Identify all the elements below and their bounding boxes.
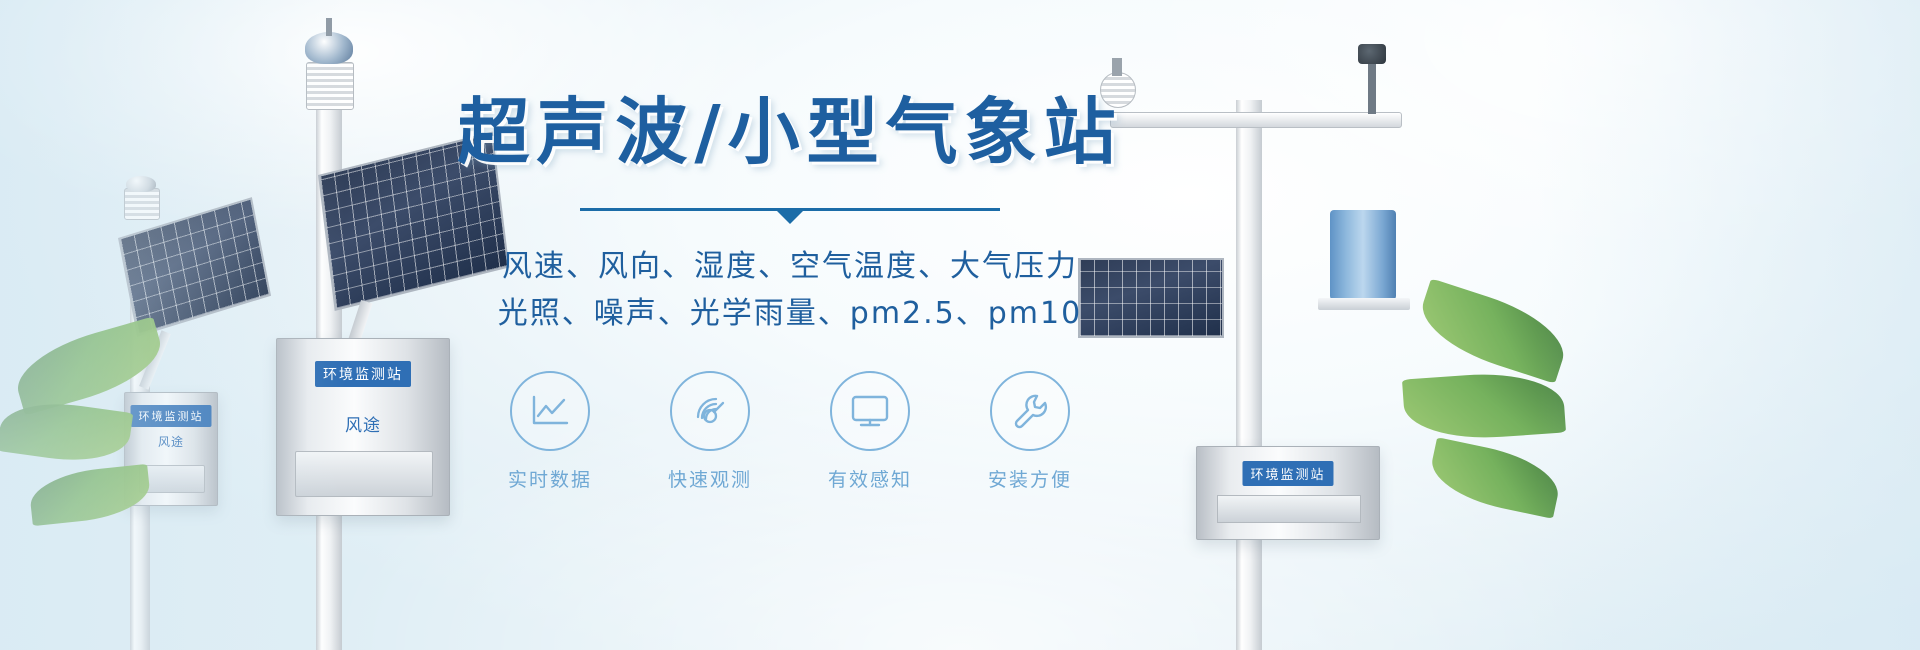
banner-title: 超声波/小型气象站 — [440, 96, 1140, 168]
left-cabinet-brand: 风途 — [158, 433, 184, 450]
middle-station-dome-icon — [305, 32, 353, 64]
feature-item-fast-observation[interactable]: 快速观测 — [650, 371, 770, 492]
feature-label: 安装方便 — [970, 465, 1090, 492]
feature-icon-circle — [990, 371, 1070, 451]
middle-station-mast-tip — [326, 18, 332, 36]
right-station-cross-arm — [1110, 112, 1402, 128]
line-chart-icon — [530, 394, 570, 428]
feature-item-effective-sensing[interactable]: 有效感知 — [810, 371, 930, 492]
middle-cabinet-tag: 环境监测站 — [315, 361, 411, 387]
right-station-pole — [1236, 100, 1262, 650]
product-banner: 环境监测站 风途 环境监测站 风途 环境监测站 — [0, 0, 1920, 650]
left-station-dome-icon — [126, 176, 156, 192]
right-station-gauge-shelf — [1318, 298, 1410, 310]
feature-label: 有效感知 — [810, 465, 930, 492]
right-equipment-cabinet: 环境监测站 — [1196, 446, 1380, 540]
title-divider — [580, 208, 1000, 222]
feature-item-realtime-data[interactable]: 实时数据 — [490, 371, 610, 492]
banner-text-block: 超声波/小型气象站 风速、风向、湿度、空气温度、大气压力 光照、噪声、光学雨量、… — [440, 96, 1140, 566]
left-cabinet-vent — [139, 465, 205, 493]
feature-label: 快速观测 — [650, 465, 770, 492]
middle-station-sensor-stack — [306, 62, 354, 110]
feature-icon-circle — [670, 371, 750, 451]
feature-item-easy-install[interactable]: 安装方便 — [970, 371, 1090, 492]
middle-cabinet-vent — [295, 451, 433, 497]
monitor-screen-icon — [849, 393, 891, 429]
right-station-instrument-mast — [1368, 58, 1376, 114]
feature-list: 实时数据 快速观测 — [440, 371, 1140, 492]
middle-equipment-cabinet: 环境监测站 风途 — [276, 338, 450, 516]
feature-icon-circle — [830, 371, 910, 451]
wrench-icon — [1010, 391, 1050, 431]
right-cabinet-vent — [1217, 495, 1361, 523]
divider-triangle-icon — [777, 211, 803, 224]
leaf-decoration-right-1 — [1412, 278, 1574, 383]
left-station-sensor-stack — [124, 188, 160, 220]
leaf-decoration-right-3 — [1426, 437, 1565, 519]
left-cabinet-tag: 环境监测站 — [131, 405, 212, 427]
leaf-decoration-right-2 — [1402, 368, 1566, 443]
right-station-sensor-mast — [1112, 58, 1122, 76]
feature-icon-circle — [510, 371, 590, 451]
middle-cabinet-brand: 风途 — [345, 411, 381, 436]
subtitle-line-2: 光照、噪声、光学雨量、pm2.5、pm10 — [440, 291, 1140, 338]
right-cabinet-tag: 环境监测站 — [1242, 461, 1333, 486]
leaf-decoration-left-2 — [0, 395, 133, 469]
feature-label: 实时数据 — [490, 465, 610, 492]
right-station-rain-gauge — [1330, 210, 1396, 300]
right-station-camera-icon — [1358, 44, 1386, 64]
banner-subtitle: 风速、风向、湿度、空气温度、大气压力 光照、噪声、光学雨量、pm2.5、pm10 — [440, 244, 1140, 337]
radar-signal-icon — [690, 391, 730, 431]
subtitle-line-1: 风速、风向、湿度、空气温度、大气压力 — [502, 249, 1078, 284]
